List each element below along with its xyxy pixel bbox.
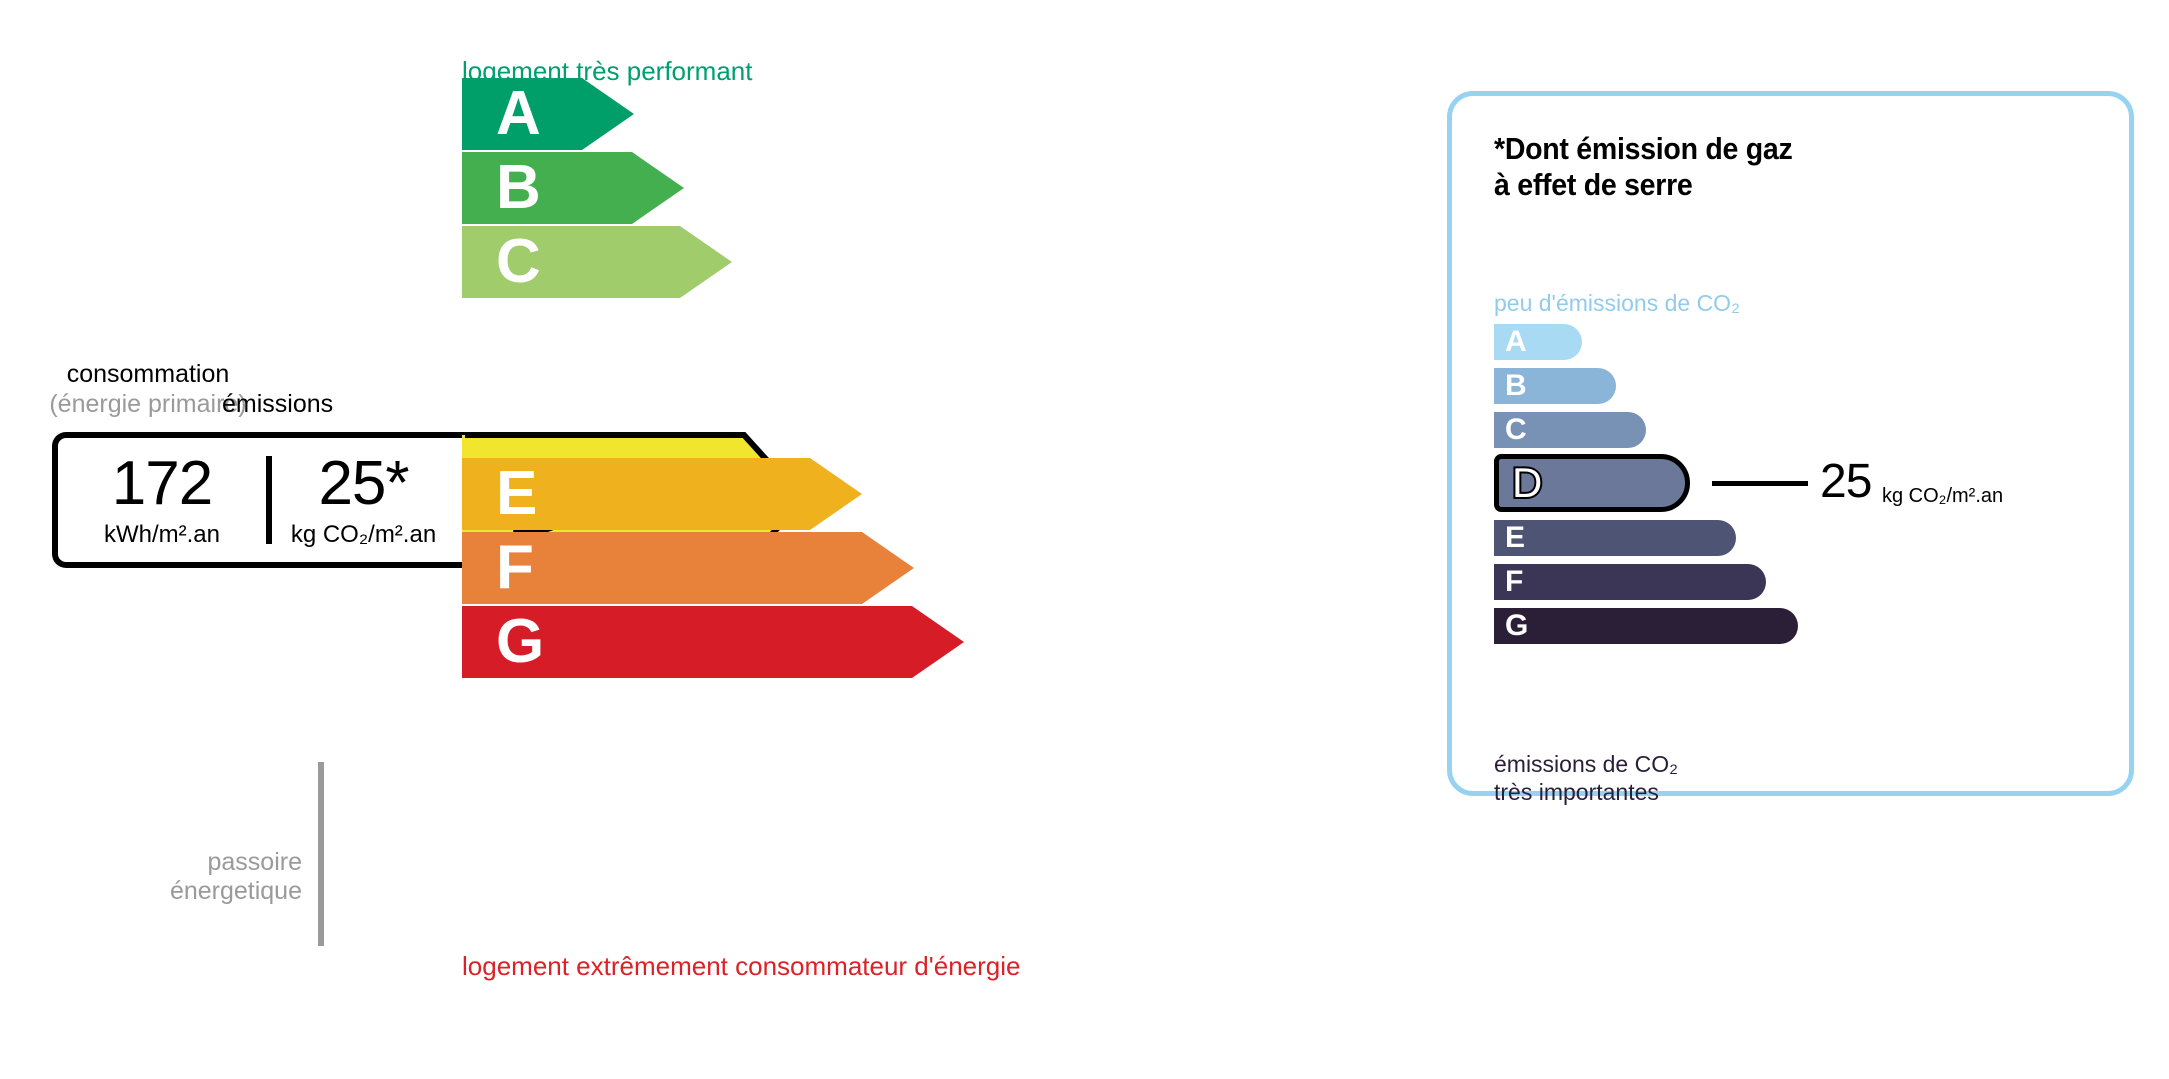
energy-band-c-letter: C: [496, 231, 541, 293]
co2-bar-f-letter: F: [1505, 567, 1523, 597]
co2-title-line-2: à effet de serre: [1494, 167, 1792, 203]
label-emissions: émissions: [222, 390, 333, 418]
co2-callout-value: 25: [1820, 458, 1871, 506]
passoire-energetique-bar: [318, 762, 324, 946]
co2-bar-e: E: [1494, 520, 1736, 556]
co2-callout-leader-line: [1712, 481, 1808, 486]
co2-bar-b: B: [1494, 368, 1616, 404]
co2-callout-unit: kg CO₂/m².an: [1882, 486, 2003, 506]
energy-band-a-letter: A: [496, 83, 541, 145]
energy-band-b: B: [462, 152, 684, 224]
co2-panel-title: *Dont émission de gaz à effet de serre: [1494, 131, 1792, 203]
co2-bar-d-letter: D: [1512, 462, 1542, 504]
co2-bar-b-letter: B: [1505, 371, 1527, 401]
energy-value-cell: 172 kWh/m².an: [58, 453, 266, 547]
co2-bottom-line-1: émissions de CO₂: [1494, 751, 1678, 779]
energy-unit: kWh/m².an: [58, 523, 266, 547]
energy-band-f: F: [462, 532, 914, 604]
energy-band-a: A: [462, 78, 634, 150]
co2-bar-c-letter: C: [1505, 415, 1527, 445]
co2-bar-a-letter: A: [1505, 327, 1527, 357]
co2-bar-e-letter: E: [1505, 523, 1525, 553]
energy-band-c: C: [462, 226, 732, 298]
co2-bar-g-letter: G: [1505, 611, 1528, 641]
passoire-line-2: énergetique: [150, 877, 302, 906]
energy-band-g-letter: G: [496, 611, 544, 673]
value-box: 172 kWh/m².an 25* kg CO₂/m².an: [52, 432, 467, 568]
passoire-line-1: passoire: [150, 848, 302, 877]
passoire-energetique-label: passoire énergetique: [150, 848, 302, 906]
co2-bar-f: F: [1494, 564, 1766, 600]
co2-bar-c: C: [1494, 412, 1646, 448]
co2-top-caption: peu d'émissions de CO₂: [1494, 290, 1740, 317]
energy-performance-ladder: logement très performant A B C 172 kWh/m…: [0, 0, 1340, 1079]
co2-bar-g: G: [1494, 608, 1798, 644]
co2-bottom-line-2: très importantes: [1494, 779, 1678, 807]
co2-value: 25*: [266, 453, 461, 515]
co2-emissions-panel: *Dont émission de gaz à effet de serre p…: [1447, 91, 2134, 796]
energy-band-g: G: [462, 606, 964, 678]
co2-bar-a: A: [1494, 324, 1582, 360]
ladder-bottom-caption: logement extrêmement consommateur d'éner…: [462, 951, 1020, 982]
energy-band-e-letter: E: [496, 463, 537, 525]
energy-band-e: E: [462, 458, 862, 530]
energy-band-b-letter: B: [496, 157, 541, 219]
energy-value: 172: [58, 453, 266, 515]
co2-title-line-1: *Dont émission de gaz: [1494, 131, 1792, 167]
co2-value-cell: 25* kg CO₂/m².an: [266, 453, 461, 547]
co2-bottom-caption: émissions de CO₂ très importantes: [1494, 751, 1678, 806]
co2-unit: kg CO₂/m².an: [266, 523, 461, 547]
label-consommation: consommation: [48, 360, 248, 388]
energy-band-f-letter: F: [496, 537, 534, 599]
co2-bar-d: D: [1494, 454, 1690, 512]
